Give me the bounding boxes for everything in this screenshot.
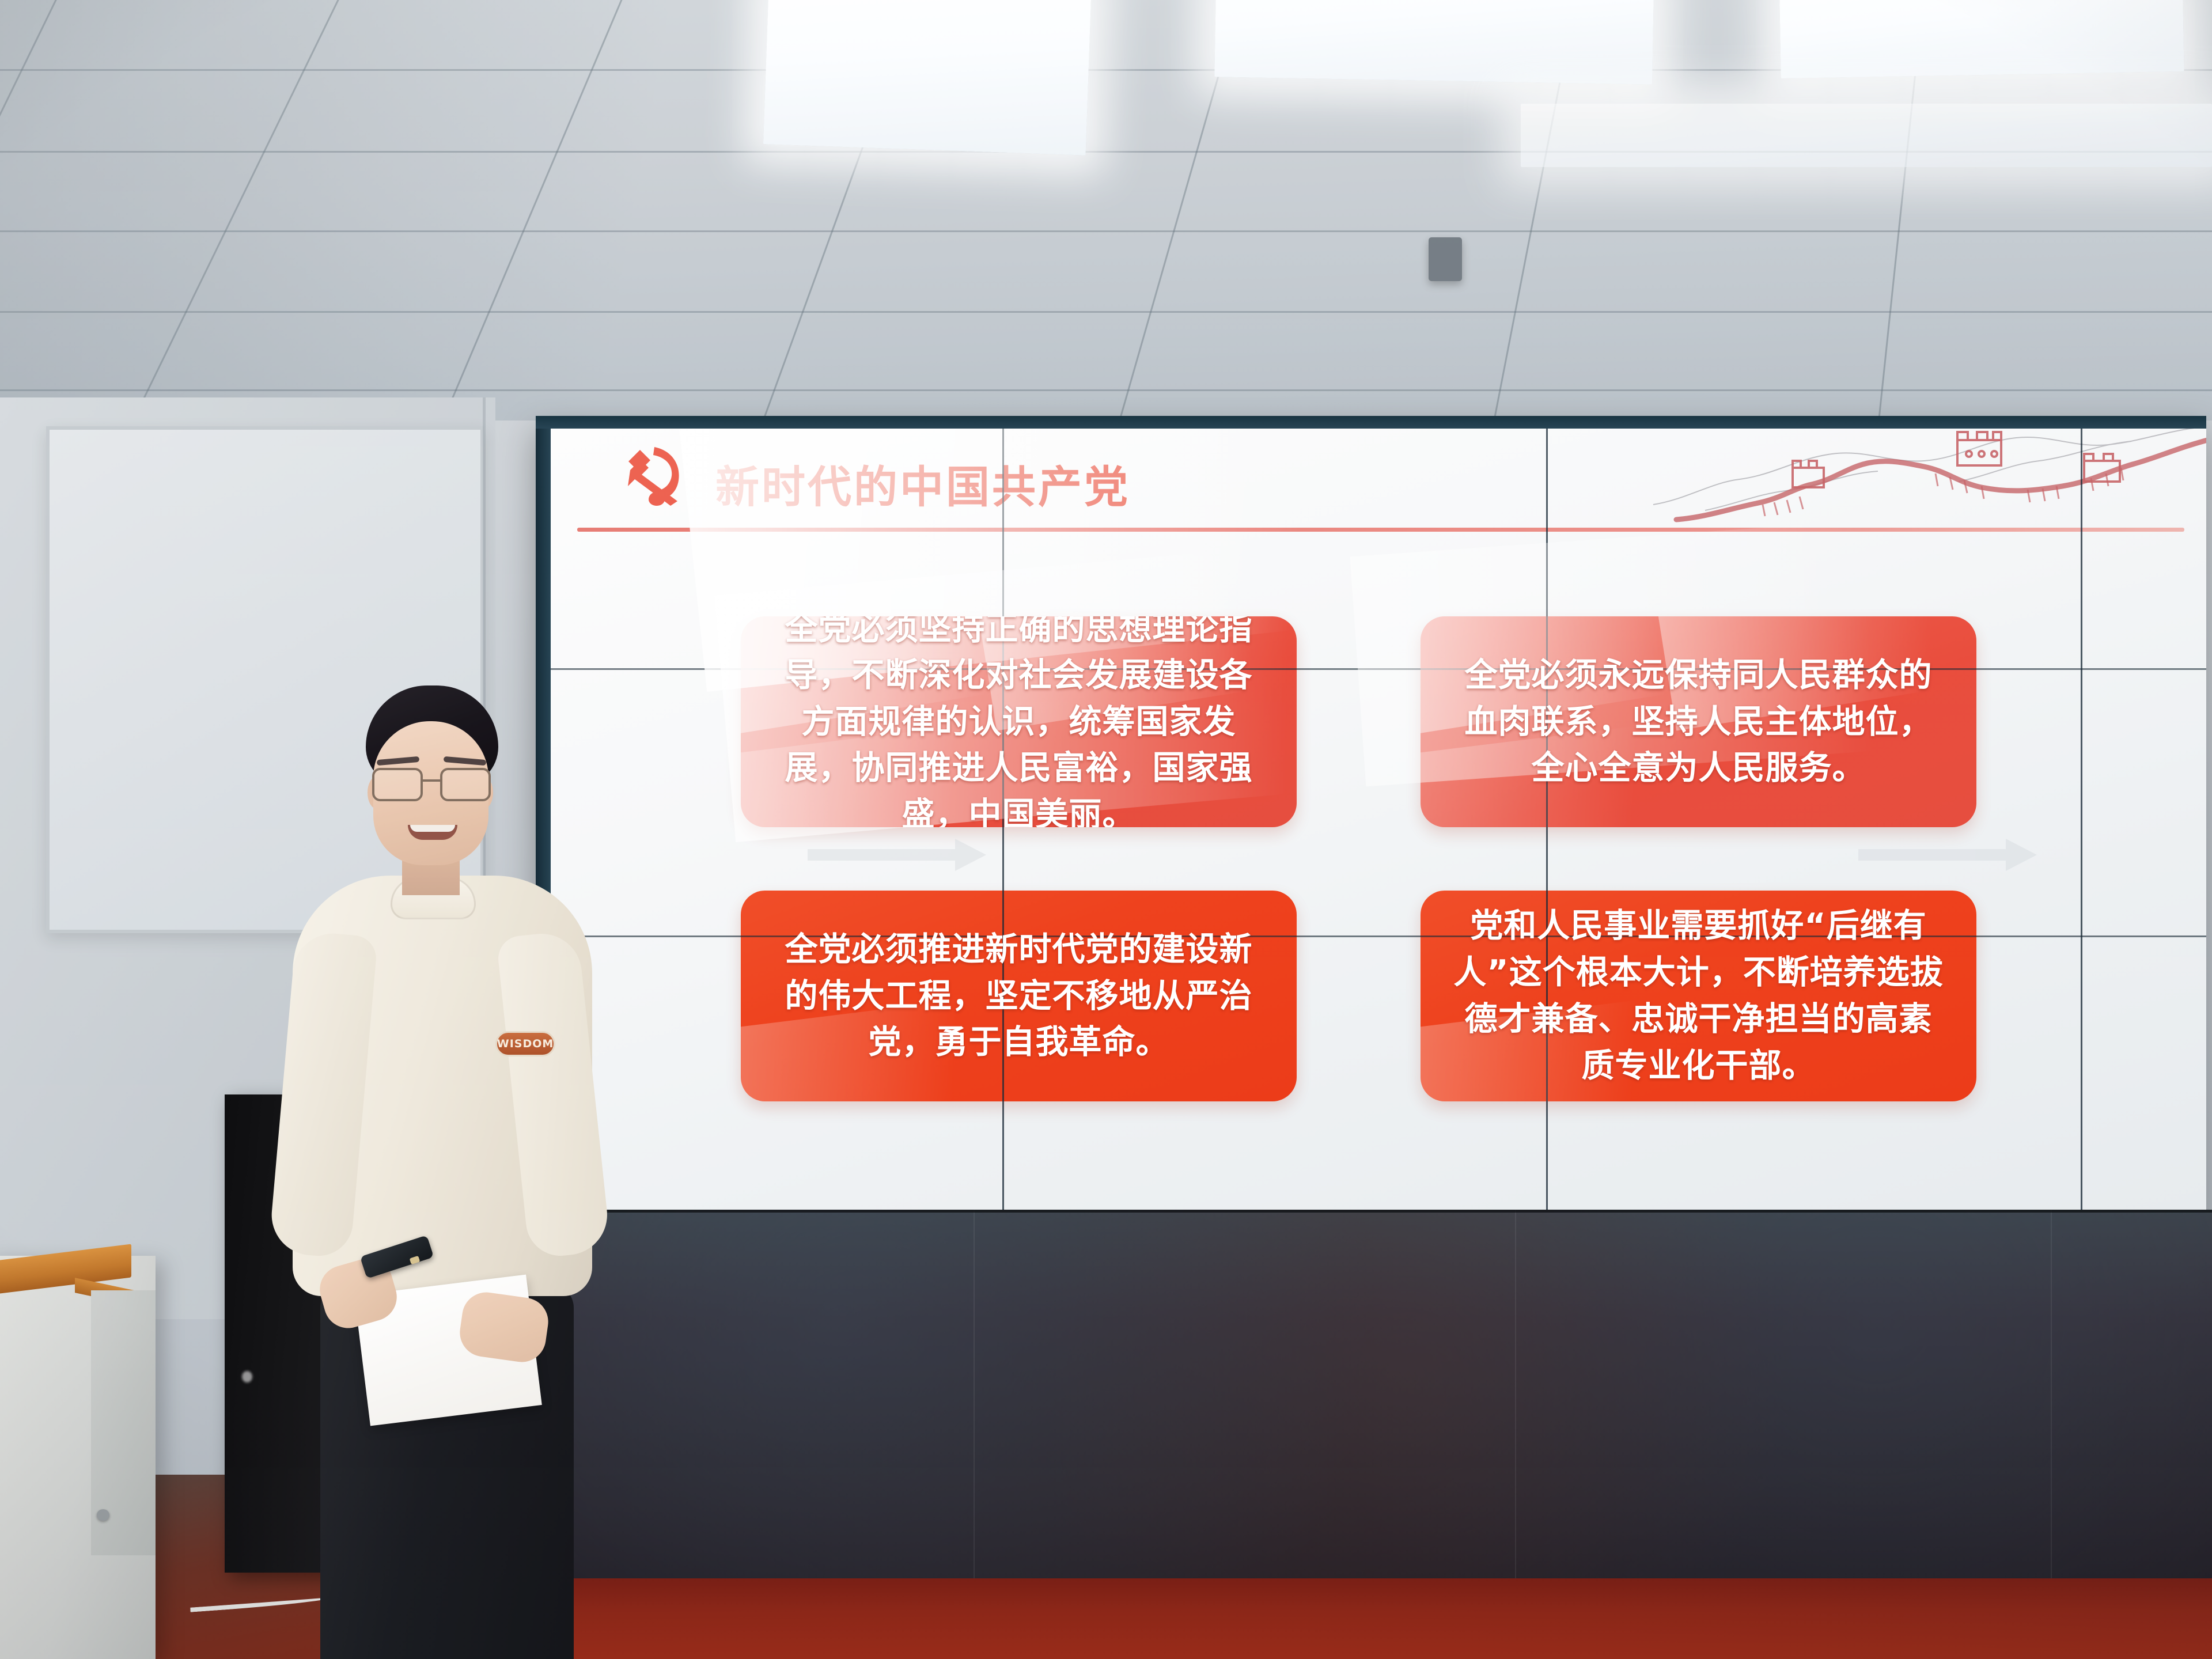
sweater-brand-patch: WISDOM bbox=[495, 1031, 555, 1056]
ceiling-light-panel bbox=[1521, 104, 2212, 167]
sweater-brand-text: WISDOM bbox=[497, 1037, 554, 1050]
slide-card-top-right: 全党必须永远保持同人民群众的血肉联系，坚持人民主体地位，全心全意为人民服务。 bbox=[1421, 616, 1976, 827]
ccp-hammer-sickle-emblem bbox=[621, 445, 690, 506]
flow-arrow-left bbox=[808, 839, 986, 871]
presenter-glasses bbox=[372, 768, 493, 802]
slide-card-text: 全党必须永远保持同人民群众的血肉联系，坚持人民主体地位，全心全意为人民服务。 bbox=[1452, 652, 1945, 792]
slide-card-bottom-right: 党和人民事业需要抓好“后继有人”这个根本大计，不断培养选拔德才兼备、忠诚干净担当… bbox=[1421, 891, 1976, 1101]
presentation-photo-scene: 新时代的中国共产党 bbox=[0, 0, 2212, 1659]
smoke-detector-icon bbox=[1429, 237, 1462, 281]
slide-title: 新时代的中国共产党 bbox=[715, 452, 1130, 515]
slide-card-top-left: 全党必须坚持正确的思想理论指导，不断深化对社会发展建设各方面规律的认识，统筹国家… bbox=[741, 616, 1297, 827]
flow-arrow-right bbox=[1858, 839, 2037, 871]
stage-platform bbox=[536, 1210, 2212, 1578]
slide-card-text: 全党必须推进新时代党的建设新的伟大工程，坚定不移地从严治党，勇于自我革命。 bbox=[772, 926, 1266, 1066]
presenter-person: WISDOM bbox=[271, 685, 685, 1659]
slide-card-bottom-left: 全党必须推进新时代党的建设新的伟大工程，坚定不移地从严治党，勇于自我革命。 bbox=[741, 891, 1297, 1101]
ceiling-light-panel bbox=[1214, 0, 1654, 85]
slide-surface: 新时代的中国共产党 bbox=[551, 429, 2206, 1210]
video-wall-bezel-top bbox=[536, 416, 2206, 429]
slide-header: 新时代的中国共产党 bbox=[551, 429, 2206, 521]
slide-card-text: 党和人民事业需要抓好“后继有人”这个根本大计，不断培养选拔德才兼备、忠诚干净担当… bbox=[1452, 903, 1945, 1089]
screen-bezel-seam bbox=[1546, 429, 1548, 1210]
great-wall-illustration bbox=[1636, 429, 2206, 533]
screen-bezel-seam bbox=[2081, 429, 2082, 1210]
slide-card-text: 全党必须坚持正确的思想理论指导，不断深化对社会发展建设各方面规律的认识，统筹国家… bbox=[772, 616, 1266, 827]
ceiling-light-panel bbox=[1779, 0, 2184, 78]
suspended-ceiling bbox=[0, 0, 2212, 421]
lectern-knob bbox=[97, 1509, 109, 1521]
